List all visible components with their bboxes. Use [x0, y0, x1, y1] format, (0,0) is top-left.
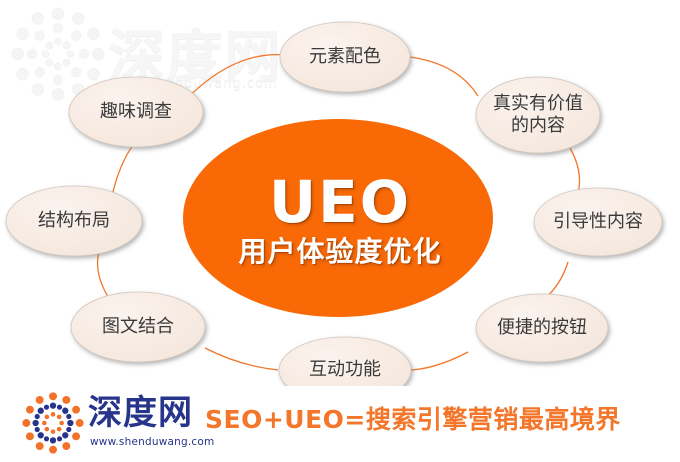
- connector-element-color-to-valuable-content: [400, 56, 478, 96]
- connector-interactive-to-image-text: [205, 348, 278, 370]
- brand-logo[interactable]: 深度网 www.shenduwang.com: [22, 390, 232, 456]
- footer-tagline: SEO+UEO=搜索引擎营销最高境界: [205, 400, 665, 436]
- connector-image-text-to-structure-layout: [98, 248, 110, 300]
- brand-url-text: www.shenduwang.com: [90, 436, 214, 448]
- node-ellipse-image-text[interactable]: [71, 292, 205, 362]
- hub-ellipse[interactable]: [183, 119, 493, 317]
- node-ellipse-valuable-content[interactable]: [476, 77, 600, 153]
- node-ellipse-fun-survey[interactable]: [69, 77, 203, 147]
- brand-dot-ring-icon: [22, 392, 84, 454]
- node-ellipse-structure-layout[interactable]: [6, 186, 142, 256]
- brand-name-text: 深度网: [88, 396, 193, 430]
- footer-bar: 深度网 www.shenduwang.com SEO+UEO=搜索引擎营销最高境…: [0, 386, 680, 462]
- node-ellipse-guiding-content[interactable]: [534, 188, 662, 256]
- node-ellipse-convenient-button[interactable]: [476, 294, 608, 362]
- node-ellipse-element-color[interactable]: [280, 22, 410, 92]
- infographic-canvas: 深度网 www.shenduwang.com: [0, 0, 680, 462]
